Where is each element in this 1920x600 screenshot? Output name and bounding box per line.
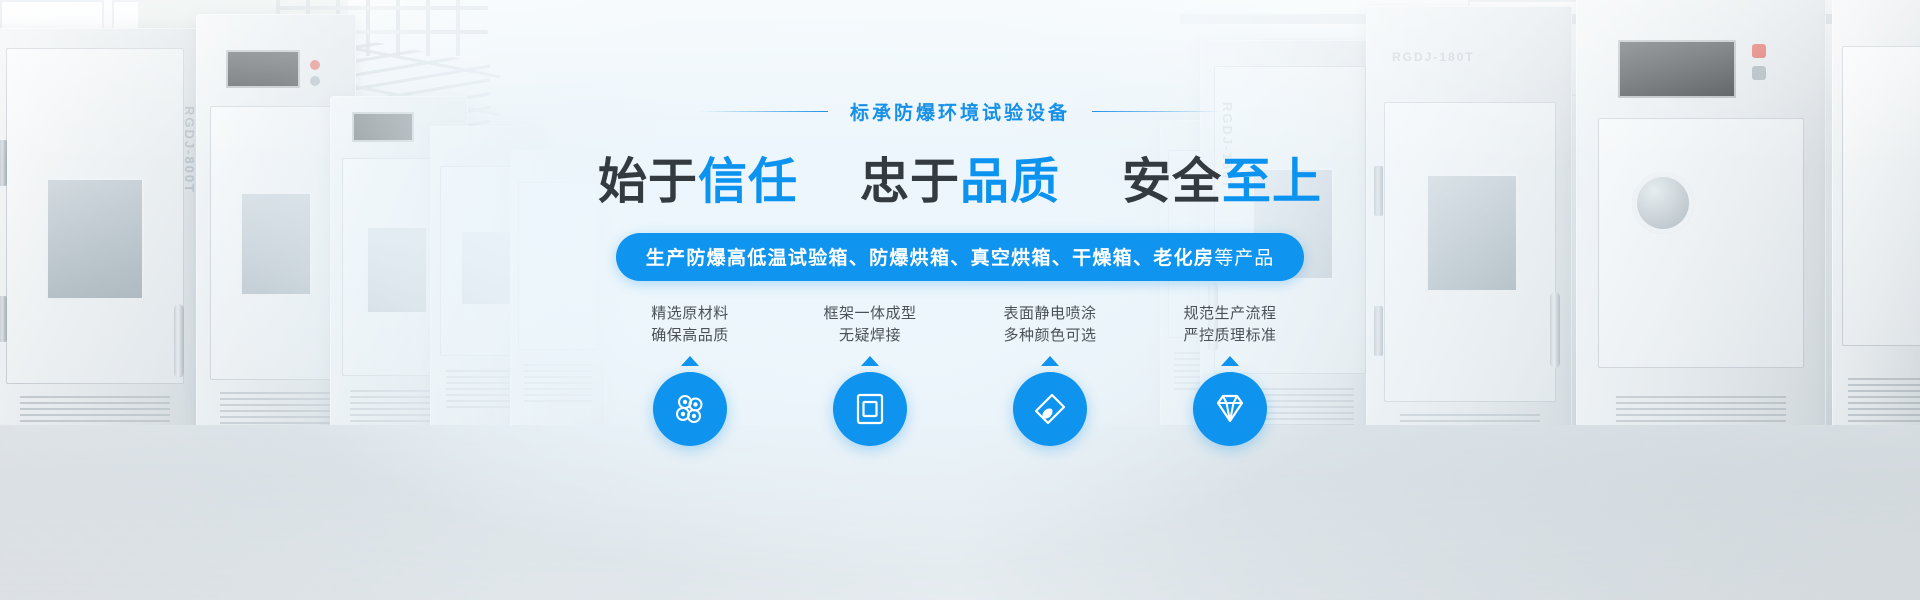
headline-phrase-3: 安全至上 — [1122, 142, 1322, 213]
feature-item-material[interactable]: 精选原材料 确保高品质 — [626, 303, 754, 446]
feature-icon-circle[interactable] — [1193, 372, 1267, 446]
headline-3-dark: 安全 — [1122, 155, 1222, 209]
headline-2-blue: 品质 — [960, 155, 1060, 209]
headline: 始于信任 忠于品质 安全至上 — [598, 142, 1322, 213]
promotional-banner: RGDJ-800T RGDJ-800 RGD-400 — [0, 0, 1920, 600]
feature-arrow-icon — [1221, 356, 1239, 366]
feature-line-1: 规范生产流程 — [1183, 303, 1276, 325]
feature-item-frame[interactable]: 框架一体成型 无疑焊接 — [806, 303, 934, 446]
headline-phrase-2: 忠于品质 — [860, 142, 1060, 213]
feature-arrow-icon — [861, 356, 879, 366]
tagline-row: 标承防爆环境试验设备 — [698, 98, 1222, 125]
tagline-rule-right — [1092, 111, 1222, 112]
feature-line-2: 严控质理标准 — [1183, 325, 1276, 347]
feature-arrow-icon — [681, 356, 699, 366]
feature-icon-circle[interactable] — [1013, 372, 1087, 446]
feature-line-2: 多种颜色可选 — [1003, 325, 1096, 347]
product-list-pill: 生产防爆高低温试验箱、防爆烘箱、真空烘箱、干燥箱、老化房等产品 — [616, 233, 1304, 281]
tagline-text: 标承防爆环境试验设备 — [850, 98, 1070, 125]
headline-1-blue: 信任 — [698, 155, 798, 209]
tagline-rule-left — [698, 111, 828, 112]
feature-arrow-icon — [1041, 356, 1059, 366]
headline-phrase-1: 始于信任 — [598, 142, 798, 213]
feature-icon-circle[interactable] — [653, 372, 727, 446]
material-rings-icon — [671, 390, 709, 428]
headline-3-blue: 至上 — [1222, 155, 1322, 209]
feature-line-2: 无疑焊接 — [823, 325, 916, 347]
feature-text: 框架一体成型 无疑焊接 — [823, 303, 916, 347]
feature-icon-circle[interactable] — [833, 372, 907, 446]
paint-spray-icon — [1031, 390, 1069, 428]
headline-2-dark: 忠于 — [860, 155, 960, 209]
diamond-icon — [1211, 390, 1249, 428]
feature-text: 规范生产流程 严控质理标准 — [1183, 303, 1276, 347]
feature-line-2: 确保高品质 — [651, 325, 729, 347]
headline-1-dark: 始于 — [598, 155, 698, 209]
feature-line-1: 表面静电喷涂 — [1003, 303, 1096, 325]
feature-list: 精选原材料 确保高品质 — [626, 303, 1294, 446]
feature-text: 精选原材料 确保高品质 — [651, 303, 729, 347]
product-list-thin: 等产品 — [1214, 248, 1274, 269]
feature-text: 表面静电喷涂 多种颜色可选 — [1003, 303, 1096, 347]
product-list-strong: 生产防爆高低温试验箱、防爆烘箱、真空烘箱、干燥箱、老化房 — [646, 248, 1214, 269]
feature-line-1: 框架一体成型 — [823, 303, 916, 325]
feature-line-1: 精选原材料 — [651, 303, 729, 325]
feature-item-coating[interactable]: 表面静电喷涂 多种颜色可选 — [986, 303, 1114, 446]
frame-square-icon — [852, 391, 888, 427]
feature-item-standard[interactable]: 规范生产流程 严控质理标准 — [1166, 303, 1294, 446]
